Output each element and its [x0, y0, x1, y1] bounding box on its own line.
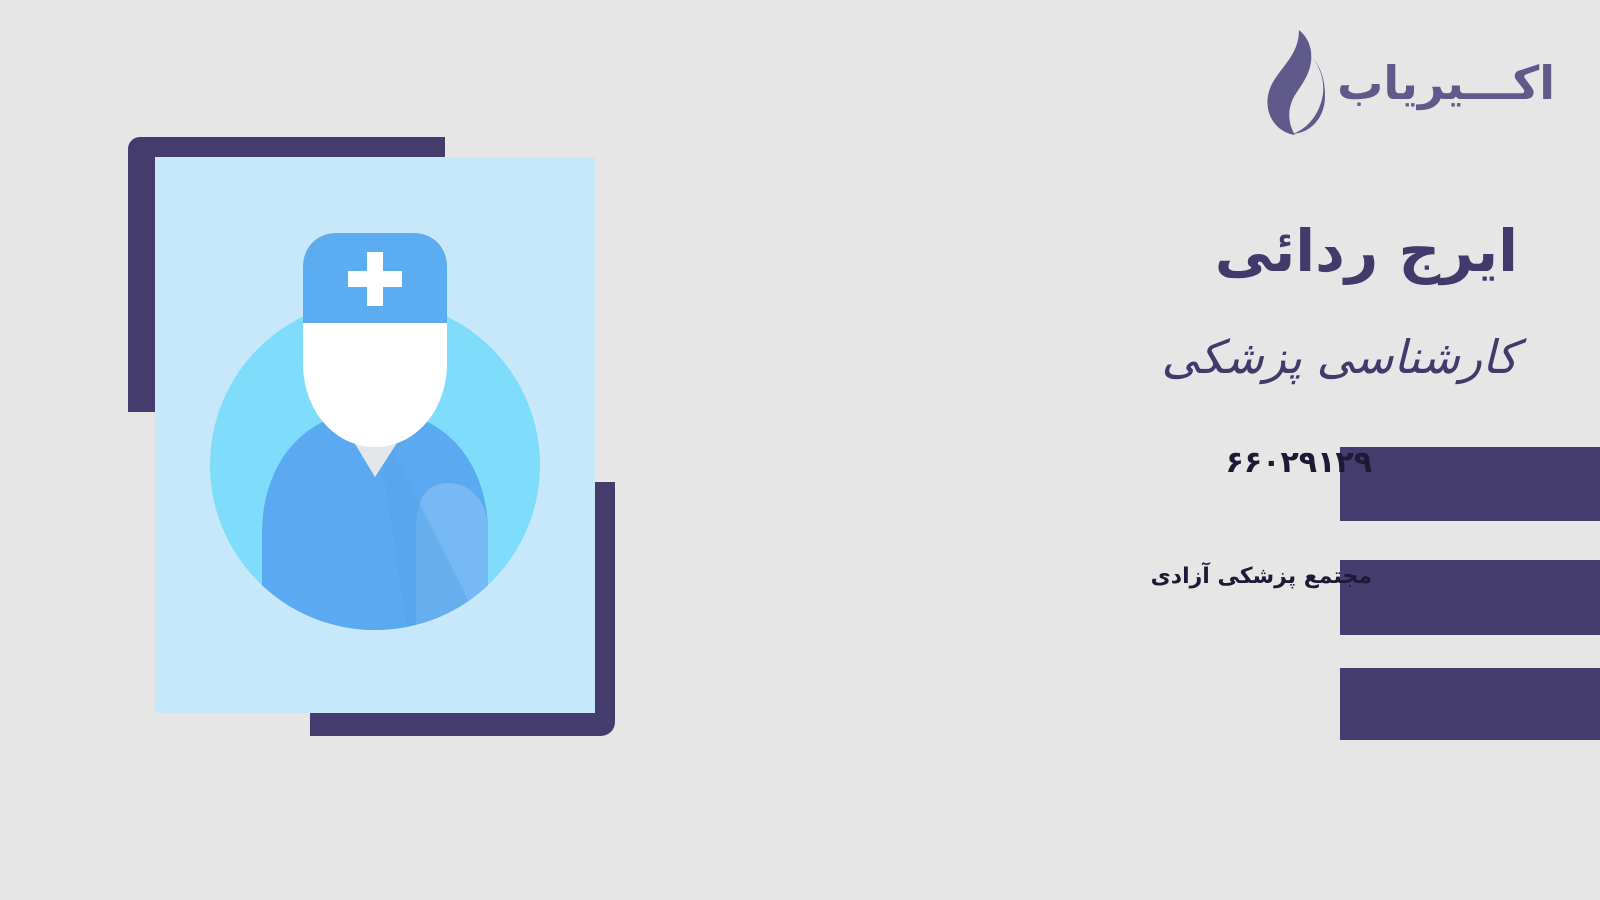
- doctor-avatar-icon: [210, 215, 540, 655]
- illustration-composition: [128, 137, 618, 737]
- brand-name: اکـــیریاب: [1337, 60, 1555, 106]
- decor-bar-1: [1340, 447, 1600, 521]
- decor-bar-3: [1340, 668, 1600, 740]
- flame-drop-icon: [1253, 28, 1327, 138]
- business-card: اکـــیریاب ایرج ردائی کارشناسی پزشکی ۶۶۰…: [0, 0, 1600, 900]
- avatar: [155, 157, 595, 713]
- address-line: مجتمع پزشکی آزادی: [1151, 566, 1372, 588]
- decor-bar-2: [1340, 560, 1600, 635]
- info-panel: اکـــیریاب ایرج ردائی کارشناسی پزشکی ۶۶۰…: [1000, 0, 1600, 900]
- profile-role: کارشناسی پزشکی: [1161, 330, 1518, 385]
- photo-plate: [155, 157, 595, 713]
- page-title: ایرج ردائی: [1215, 218, 1518, 285]
- phone-number[interactable]: ۶۶۰۲۹۱۲۹: [1226, 448, 1372, 478]
- brand-lockup: اکـــیریاب: [1253, 28, 1555, 138]
